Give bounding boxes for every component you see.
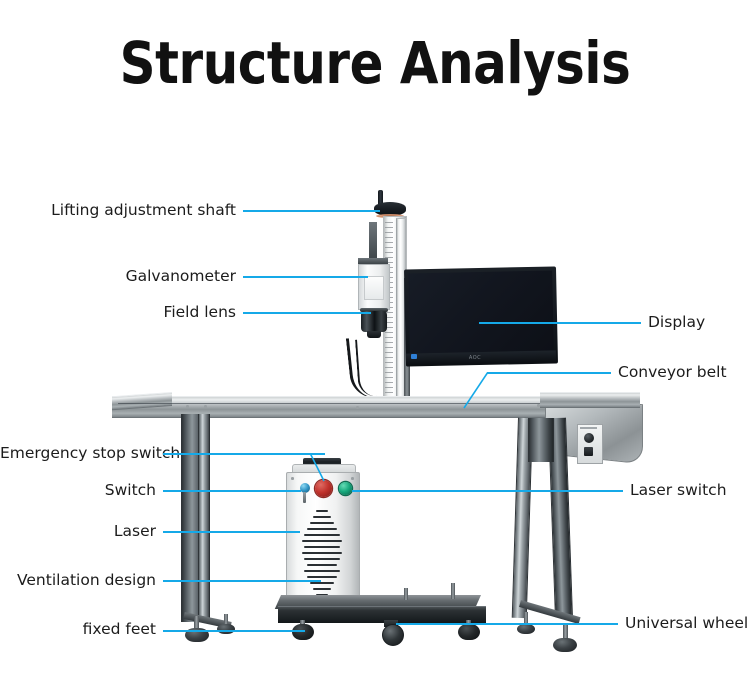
callout-label-universal-wheel: Universal wheel [625,616,748,632]
callout-label-lifting-adjustment-shaft: Lifting adjustment shaft [0,203,236,219]
conveyor-leg-right-motor-box [528,418,554,462]
callout-label-ventilation-design: Ventilation design [0,573,156,589]
f-theta-field-lens [361,311,387,332]
leader-line-fixed-feet [163,630,305,632]
adjustable-leveling-foot [217,624,235,634]
callout-label-fixed-feet: fixed feet [0,622,156,638]
galvanometer-face-plate [364,276,384,300]
speed-knob[interactable] [584,433,594,443]
leader-line-emergency-stop-switch [163,453,325,455]
display-screen [408,271,554,354]
trolley-base-plate [278,606,486,623]
conveyor-belt-end-top [540,392,640,408]
beam-screw-icon [356,406,359,409]
leader-line-laser-switch [352,490,623,492]
callout-label-conveyor-belt: Conveyor belt [618,365,727,381]
callout-label-field-lens: Field lens [0,305,236,321]
leader-line-emergency-stop-elbow [310,453,330,483]
callout-label-laser: Laser [0,524,156,540]
green-start-button[interactable] [339,482,352,495]
callout-label-switch: Switch [0,483,156,499]
base-post-icon [451,583,455,599]
base-leveling-foot [458,624,480,640]
display-brand-logo: AOC [455,355,495,361]
base-leveling-foot [292,624,314,640]
beam-screw-icon [186,405,189,408]
structure-analysis-diagram: Structure Analysis AOC [0,0,750,686]
leader-line-switch [163,490,301,492]
callout-label-display: Display [648,315,705,331]
beam-screw-icon [204,405,207,408]
head-bracket [369,222,377,262]
universal-caster-wheel[interactable] [382,624,404,646]
laser-unit-screw-icon [351,477,354,480]
leader-line-field-lens [243,312,371,314]
laser-unit-screw-icon [291,477,294,480]
leader-line-universal-wheel [396,623,618,625]
diamond-vent-grille [300,508,344,600]
leader-line-lifting-adjustment-shaft [243,210,380,212]
leader-line-conveyor-belt-elbow [462,372,490,410]
conveyor-leg-left-inner [198,414,210,618]
leader-line-display [479,322,641,324]
adjustable-leveling-foot [517,624,535,634]
leader-line-conveyor-belt [487,372,611,374]
leader-line-galvanometer [243,276,368,278]
base-post-icon [404,588,408,600]
beam-screw-icon [537,404,540,407]
callout-label-emergency-stop-switch: Emergency stop switch [0,446,156,462]
power-rocker-switch[interactable] [584,447,593,456]
key-switch-stem-icon [303,492,306,503]
leader-line-ventilation-design [163,580,321,582]
conveyor-speed-control-panel[interactable] [577,424,603,464]
leader-line-laser [163,531,300,533]
control-panel-label-icon [580,427,597,429]
callout-label-galvanometer: Galvanometer [0,269,236,285]
adjustable-leveling-foot [553,638,577,652]
power-led-indicator [411,354,417,359]
callout-label-laser-switch: Laser switch [630,483,727,499]
